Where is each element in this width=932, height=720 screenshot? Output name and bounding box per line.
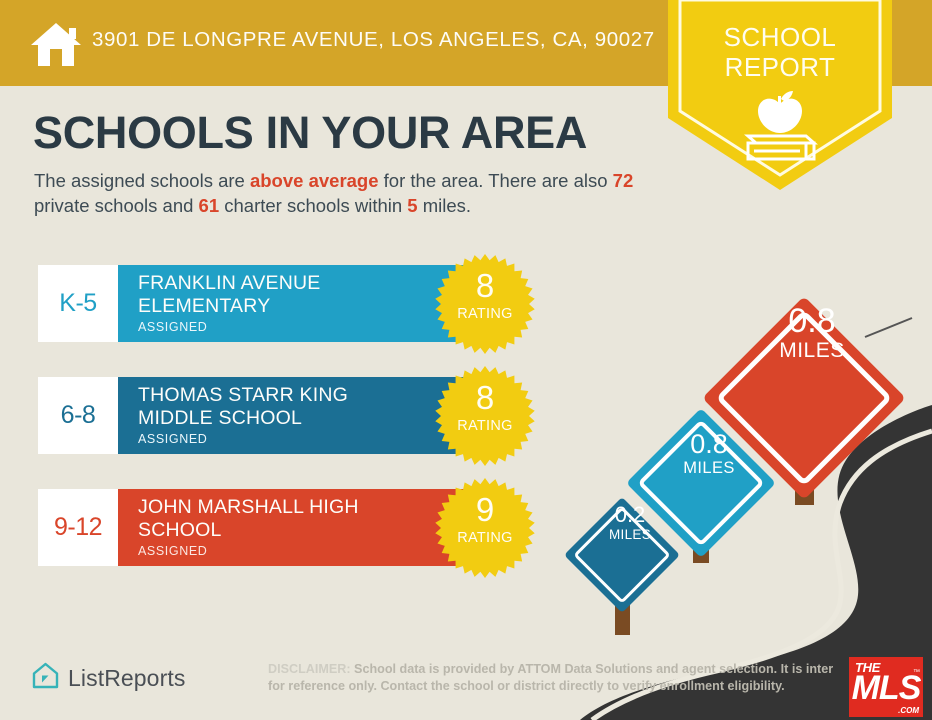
- rating-starburst: 8 RATING: [434, 253, 536, 355]
- badge-title: SCHOOL REPORT: [668, 22, 892, 82]
- disclaimer-text: DISCLAIMER: School data is provided by A…: [268, 661, 868, 695]
- listreports-house-tag-icon: [32, 662, 59, 695]
- school-row[interactable]: 9-12 JOHN MARSHALL HIGH SCHOOL ASSIGNED …: [38, 489, 538, 566]
- school-report-badge: SCHOOL REPORT: [668, 0, 892, 190]
- infographic-canvas: 3901 DE LONGPRE AVENUE, LOS ANGELES, CA,…: [0, 0, 932, 720]
- rating-value: 9: [434, 493, 536, 526]
- grade-range-box: K-5: [38, 265, 118, 342]
- rating-value: 8: [434, 269, 536, 302]
- badge-title-line2: REPORT: [668, 52, 892, 82]
- page-title: SCHOOLS IN YOUR AREA: [33, 107, 587, 159]
- school-status: ASSIGNED: [138, 432, 207, 446]
- school-name: FRANKLIN AVENUE ELEMENTARY: [138, 272, 428, 318]
- listreports-wordmark: ListReports: [68, 665, 185, 692]
- rating-starburst: 9 RATING: [434, 477, 536, 579]
- road-scene: 0.2 MILES 0.8 MILES 0.8 MILES: [540, 255, 932, 720]
- school-status: ASSIGNED: [138, 320, 207, 334]
- school-name: JOHN MARSHALL HIGH SCHOOL: [138, 496, 428, 542]
- summary-emphasis-private-count: 72: [613, 170, 634, 191]
- summary-emphasis-charter-count: 61: [199, 195, 220, 216]
- rating-starburst: 8 RATING: [434, 365, 536, 467]
- badge-title-line1: SCHOOL: [724, 22, 837, 52]
- school-row[interactable]: K-5 FRANKLIN AVENUE ELEMENTARY ASSIGNED …: [38, 265, 538, 342]
- disclaimer-line-1: School data is provided by ATTOM Data So…: [351, 662, 834, 676]
- disclaimer-heading: DISCLAIMER:: [268, 662, 351, 676]
- school-status: ASSIGNED: [138, 544, 207, 558]
- grade-range-label: 9-12: [54, 513, 102, 542]
- summary-part-4: charter schools within: [219, 195, 407, 216]
- summary-part-5: miles.: [418, 195, 471, 216]
- school-name: THOMAS STARR KING MIDDLE SCHOOL: [138, 384, 428, 430]
- mls-com-text: .COM: [898, 706, 919, 715]
- summary-emphasis-radius: 5: [407, 195, 417, 216]
- rating-label: RATING: [434, 418, 536, 434]
- grade-range-box: 9-12: [38, 489, 118, 566]
- rating-label: RATING: [434, 306, 536, 322]
- summary-text: The assigned schools are above average f…: [34, 168, 654, 218]
- home-icon: [28, 16, 84, 72]
- school-row[interactable]: 6-8 THOMAS STARR KING MIDDLE SCHOOL ASSI…: [38, 377, 538, 454]
- mls-main-text: MLS: [851, 670, 921, 706]
- listreports-logo[interactable]: ListReports: [32, 662, 185, 695]
- the-mls-logo[interactable]: THE ™ MLS .COM: [849, 657, 923, 717]
- rating-value: 8: [434, 381, 536, 414]
- rating-label: RATING: [434, 530, 536, 546]
- summary-emphasis-rating: above average: [250, 170, 379, 191]
- disclaimer-line-2: for reference only. Contact the school o…: [268, 679, 785, 693]
- grade-range-box: 6-8: [38, 377, 118, 454]
- summary-part-2: for the area. There are also: [379, 170, 613, 191]
- summary-part-1: The assigned schools are: [34, 170, 250, 191]
- grade-range-label: K-5: [59, 289, 96, 318]
- property-address: 3901 DE LONGPRE AVENUE, LOS ANGELES, CA,…: [92, 28, 655, 52]
- grade-range-label: 6-8: [61, 401, 96, 430]
- summary-part-3: private schools and: [34, 195, 199, 216]
